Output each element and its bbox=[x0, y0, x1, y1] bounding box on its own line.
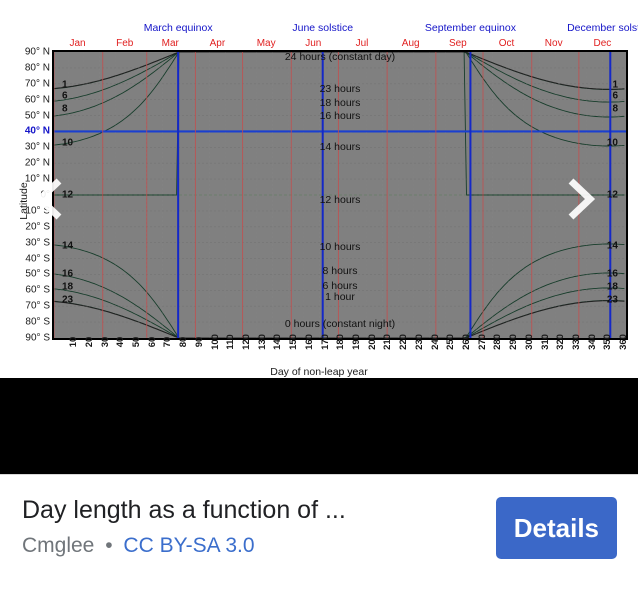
x-tick-240: 240 bbox=[430, 334, 441, 350]
y-tick--90: 90° S bbox=[2, 333, 50, 344]
x-tick-120: 120 bbox=[241, 334, 252, 350]
edge-label-left-8: 8 bbox=[62, 104, 68, 115]
edge-label-right-23: 23 bbox=[607, 294, 618, 305]
image-viewer: March equinoxJune solsticeSeptember equi… bbox=[0, 0, 638, 595]
x-tick-30: 30 bbox=[100, 337, 111, 348]
month-label-dec: Dec bbox=[594, 38, 612, 49]
x-tick-40: 40 bbox=[115, 337, 126, 348]
contour-label-9: 1 hour bbox=[325, 291, 355, 303]
y-tick-80: 80° N bbox=[2, 62, 50, 73]
y-axis-title: Latitude bbox=[18, 161, 30, 241]
x-tick-280: 280 bbox=[492, 334, 503, 350]
y-tick-90: 90° N bbox=[2, 47, 50, 58]
x-tick-320: 320 bbox=[555, 334, 566, 350]
y-tick--60: 60° S bbox=[2, 285, 50, 296]
y-tick-30: 30° N bbox=[2, 142, 50, 153]
x-tick-220: 220 bbox=[398, 334, 409, 350]
contour-label-2: 18 hours bbox=[320, 97, 361, 109]
edge-label-right-10: 10 bbox=[607, 137, 618, 148]
info-bar: Day length as a function of ... Cmglee •… bbox=[0, 474, 638, 596]
license-link[interactable]: CC BY-SA 3.0 bbox=[123, 534, 254, 557]
x-tick-90: 90 bbox=[194, 337, 205, 348]
edge-label-right-1: 1 bbox=[612, 80, 618, 91]
attribution-separator: • bbox=[105, 534, 112, 557]
x-tick-230: 230 bbox=[414, 334, 425, 350]
month-label-jan: Jan bbox=[70, 38, 86, 49]
y-tick--70: 70° S bbox=[2, 301, 50, 312]
month-label-aug: Aug bbox=[402, 38, 420, 49]
y-tick--40: 40° S bbox=[2, 253, 50, 264]
x-tick-260: 260 bbox=[461, 334, 472, 350]
x-tick-270: 270 bbox=[477, 334, 488, 350]
edge-label-right-6: 6 bbox=[612, 91, 618, 102]
plot-area: 24 hours (constant day)23 hours18 hours1… bbox=[52, 50, 628, 340]
month-label-sep: Sep bbox=[449, 38, 467, 49]
event-label-march-equinox: March equinox bbox=[144, 22, 213, 34]
x-tick-100: 100 bbox=[210, 334, 221, 350]
x-tick-250: 250 bbox=[445, 334, 456, 350]
contour-label-0: 24 hours (constant day) bbox=[285, 52, 395, 63]
month-label-oct: Oct bbox=[499, 38, 515, 49]
x-axis-labels: 1020304050607080901001101201301401501601… bbox=[52, 342, 628, 368]
edge-label-left-23: 23 bbox=[62, 294, 73, 305]
month-label-feb: Feb bbox=[116, 38, 133, 49]
x-tick-360: 360 bbox=[618, 334, 629, 350]
edge-label-right-16: 16 bbox=[607, 269, 618, 280]
edge-label-right-8: 8 bbox=[612, 104, 618, 115]
x-tick-300: 300 bbox=[524, 334, 535, 350]
month-label-jul: Jul bbox=[356, 38, 369, 49]
event-label-september-equinox: September equinox bbox=[425, 22, 516, 34]
edge-label-left-1: 1 bbox=[62, 80, 68, 91]
y-tick-40: 40° N bbox=[2, 126, 50, 137]
x-tick-20: 20 bbox=[84, 337, 95, 348]
x-tick-190: 190 bbox=[351, 334, 362, 350]
x-tick-50: 50 bbox=[131, 337, 142, 348]
x-tick-200: 200 bbox=[367, 334, 378, 350]
x-tick-70: 70 bbox=[162, 337, 173, 348]
edge-label-left-14: 14 bbox=[62, 240, 73, 251]
x-tick-340: 340 bbox=[587, 334, 598, 350]
y-tick--80: 80° S bbox=[2, 317, 50, 328]
x-tick-140: 140 bbox=[272, 334, 283, 350]
plot-canvas: 24 hours (constant day)23 hours18 hours1… bbox=[54, 52, 626, 338]
contour-label-3: 16 hours bbox=[320, 110, 361, 122]
edge-label-left-18: 18 bbox=[62, 282, 73, 293]
month-label-mar: Mar bbox=[162, 38, 179, 49]
y-tick-70: 70° N bbox=[2, 78, 50, 89]
x-tick-110: 110 bbox=[225, 334, 236, 349]
x-tick-290: 290 bbox=[508, 334, 519, 350]
contour-label-4: 14 hours bbox=[320, 141, 361, 153]
x-tick-150: 150 bbox=[288, 334, 299, 350]
edge-label-left-10: 10 bbox=[62, 137, 73, 148]
x-tick-60: 60 bbox=[147, 337, 158, 348]
chevron-right-icon[interactable] bbox=[562, 176, 596, 222]
x-tick-10: 10 bbox=[68, 337, 79, 348]
author-name: Cmglee bbox=[22, 534, 94, 557]
x-tick-350: 350 bbox=[602, 334, 613, 350]
x-tick-170: 170 bbox=[320, 334, 331, 350]
month-label-apr: Apr bbox=[210, 38, 226, 49]
x-tick-330: 330 bbox=[571, 334, 582, 350]
y-tick-50: 50° N bbox=[2, 110, 50, 121]
x-tick-130: 130 bbox=[257, 334, 268, 350]
x-tick-160: 160 bbox=[304, 334, 315, 350]
attribution-line: Cmglee • CC BY-SA 3.0 bbox=[22, 533, 442, 559]
info-text-block: Day length as a function of ... Cmglee •… bbox=[22, 493, 442, 559]
month-label-nov: Nov bbox=[545, 38, 563, 49]
chevron-left-icon[interactable] bbox=[34, 176, 68, 222]
media-title: Day length as a function of ... bbox=[22, 493, 442, 527]
contour-label-10: 0 hours (constant night) bbox=[285, 318, 395, 330]
season-label-row: March equinoxJune solsticeSeptember equi… bbox=[0, 22, 638, 37]
edge-label-right-14: 14 bbox=[607, 240, 618, 251]
x-tick-80: 80 bbox=[178, 337, 189, 348]
month-label-may: May bbox=[257, 38, 276, 49]
edge-label-left-6: 6 bbox=[62, 91, 68, 102]
daylength-chart: March equinoxJune solsticeSeptember equi… bbox=[0, 0, 638, 378]
y-tick--50: 50° S bbox=[2, 269, 50, 280]
event-label-december-solstice: December solstice bbox=[567, 22, 638, 34]
month-label-jun: Jun bbox=[305, 38, 321, 49]
edge-label-right-12: 12 bbox=[607, 190, 618, 201]
x-tick-210: 210 bbox=[382, 334, 393, 350]
contour-label-5: 12 hours bbox=[320, 194, 361, 206]
edge-label-left-16: 16 bbox=[62, 269, 73, 280]
image-pane[interactable]: March equinoxJune solsticeSeptember equi… bbox=[0, 0, 638, 462]
x-axis-title: Day of non-leap year bbox=[0, 366, 638, 378]
y-tick-60: 60° N bbox=[2, 94, 50, 105]
contour-label-1: 23 hours bbox=[320, 83, 361, 95]
x-tick-180: 180 bbox=[335, 334, 346, 350]
contour-label-7: 8 hours bbox=[322, 265, 357, 277]
edge-label-right-18: 18 bbox=[607, 282, 618, 293]
event-label-june-solstice: June solstice bbox=[292, 22, 353, 34]
x-tick-310: 310 bbox=[540, 334, 551, 350]
details-button[interactable]: Details bbox=[496, 497, 617, 559]
contour-label-6: 10 hours bbox=[320, 241, 361, 253]
